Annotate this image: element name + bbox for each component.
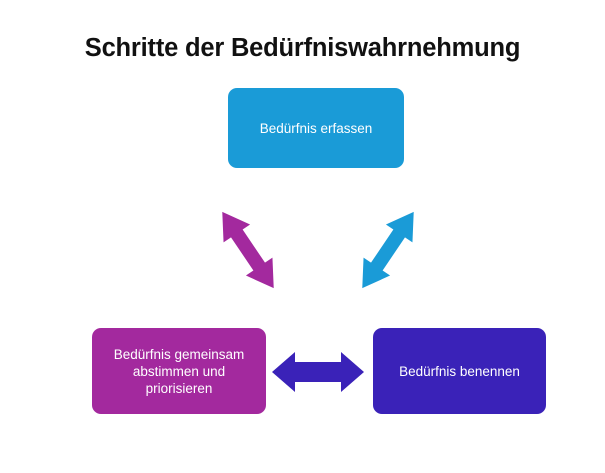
double-headed-arrow-icon-right — [348, 200, 428, 300]
node-label: Bedürfnis gemeinsam abstimmen und priori… — [104, 346, 254, 397]
node-label: Bedürfnis benennen — [385, 363, 534, 380]
double-headed-arrow-icon-horizontal — [268, 350, 368, 394]
node-label: Bedürfnis erfassen — [240, 120, 392, 137]
node-beduerfnis-benennen[interactable]: Bedürfnis benennen — [373, 328, 546, 414]
double-headed-arrow-icon-left — [208, 200, 288, 300]
node-beduerfnis-erfassen[interactable]: Bedürfnis erfassen — [228, 88, 404, 168]
node-beduerfnis-gemeinsam-abstimmen[interactable]: Bedürfnis gemeinsam abstimmen und priori… — [92, 328, 266, 414]
diagram-canvas: Schritte der Bedürfniswahrnehmung Bedürf… — [0, 0, 605, 473]
page-title: Schritte der Bedürfniswahrnehmung — [0, 34, 605, 63]
